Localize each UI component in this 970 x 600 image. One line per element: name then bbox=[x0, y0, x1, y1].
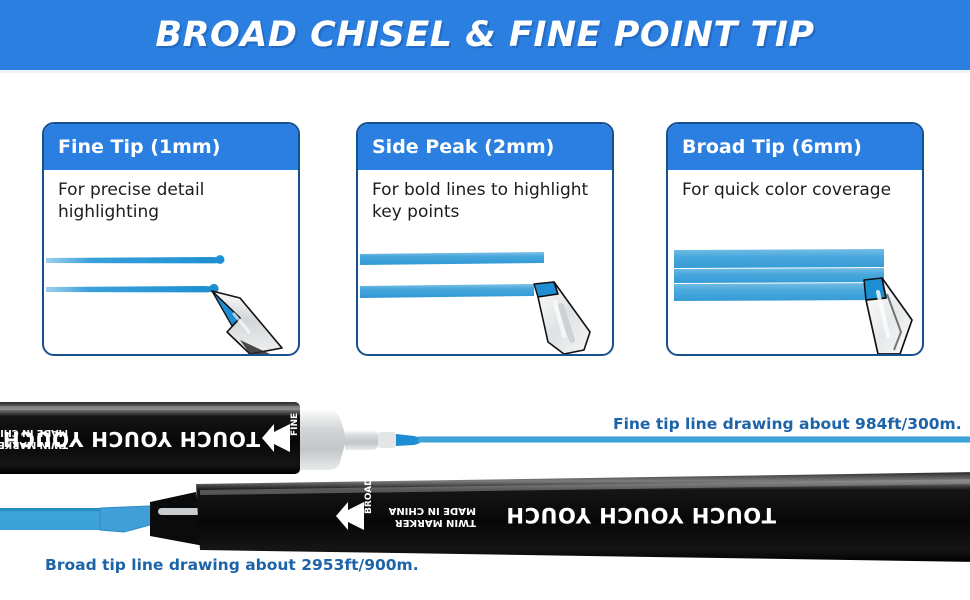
caption-fine-tip: Fine tip line drawing about 984ft/300m. bbox=[613, 415, 962, 433]
marker-broad-brand: TOUCH YOUCH YOUCH bbox=[506, 503, 776, 527]
marker-fine-tip-label: FINE bbox=[290, 413, 300, 436]
marker-broad-tip-label: BROAD bbox=[364, 478, 374, 514]
marker-fine: TOUCH YOUCH YOUCH TWIN MARKER MADE IN CH… bbox=[0, 402, 970, 474]
header-banner: BROAD CHISEL & FINE POINT TIP bbox=[0, 0, 970, 70]
card-fine-tip-title: Fine Tip (1mm) bbox=[58, 136, 220, 158]
marker-fine-line2: MADE IN CHINA bbox=[0, 427, 68, 438]
card-side-peak-description: For bold lines to highlight key points bbox=[372, 180, 598, 224]
card-side-peak-body: For bold lines to highlight key points bbox=[358, 170, 612, 224]
card-side-peak-title: Side Peak (2mm) bbox=[372, 136, 554, 158]
marker-fine-line1: TWIN MARKER bbox=[0, 439, 68, 450]
card-broad-tip: Broad Tip (6mm) For quick color coverage bbox=[666, 122, 924, 356]
card-side-peak-header: Side Peak (2mm) bbox=[358, 124, 612, 170]
card-broad-tip-description: For quick color coverage bbox=[682, 180, 908, 202]
page-title: BROAD CHISEL & FINE POINT TIP bbox=[155, 15, 814, 55]
card-broad-tip-body: For quick color coverage bbox=[668, 170, 922, 202]
card-fine-tip: Fine Tip (1mm) For precise detail highli… bbox=[42, 122, 300, 356]
card-fine-tip-description: For precise detail highlighting bbox=[58, 180, 284, 224]
card-fine-tip-body: For precise detail highlighting bbox=[44, 170, 298, 224]
card-broad-tip-title: Broad Tip (6mm) bbox=[682, 136, 862, 158]
card-broad-tip-header: Broad Tip (6mm) bbox=[668, 124, 922, 170]
caption-broad-tip: Broad tip line drawing about 2953ft/900m… bbox=[45, 556, 419, 574]
marker-broad-line1: TWIN MARKER bbox=[395, 517, 476, 528]
header-divider bbox=[0, 70, 970, 73]
card-fine-tip-header: Fine Tip (1mm) bbox=[44, 124, 298, 170]
card-side-peak: Side Peak (2mm) For bold lines to highli… bbox=[356, 122, 614, 356]
marker-broad: TOUCH YOUCH YOUCH TWIN MARKER MADE IN CH… bbox=[0, 472, 970, 562]
marker-broad-line2: MADE IN CHINA bbox=[388, 505, 476, 516]
side-peak-illustration bbox=[358, 236, 612, 354]
infographic-root: BROAD CHISEL & FINE POINT TIP Fine Tip (… bbox=[0, 0, 970, 600]
fine-tip-illustration bbox=[44, 236, 298, 354]
broad-tip-illustration bbox=[668, 236, 922, 354]
